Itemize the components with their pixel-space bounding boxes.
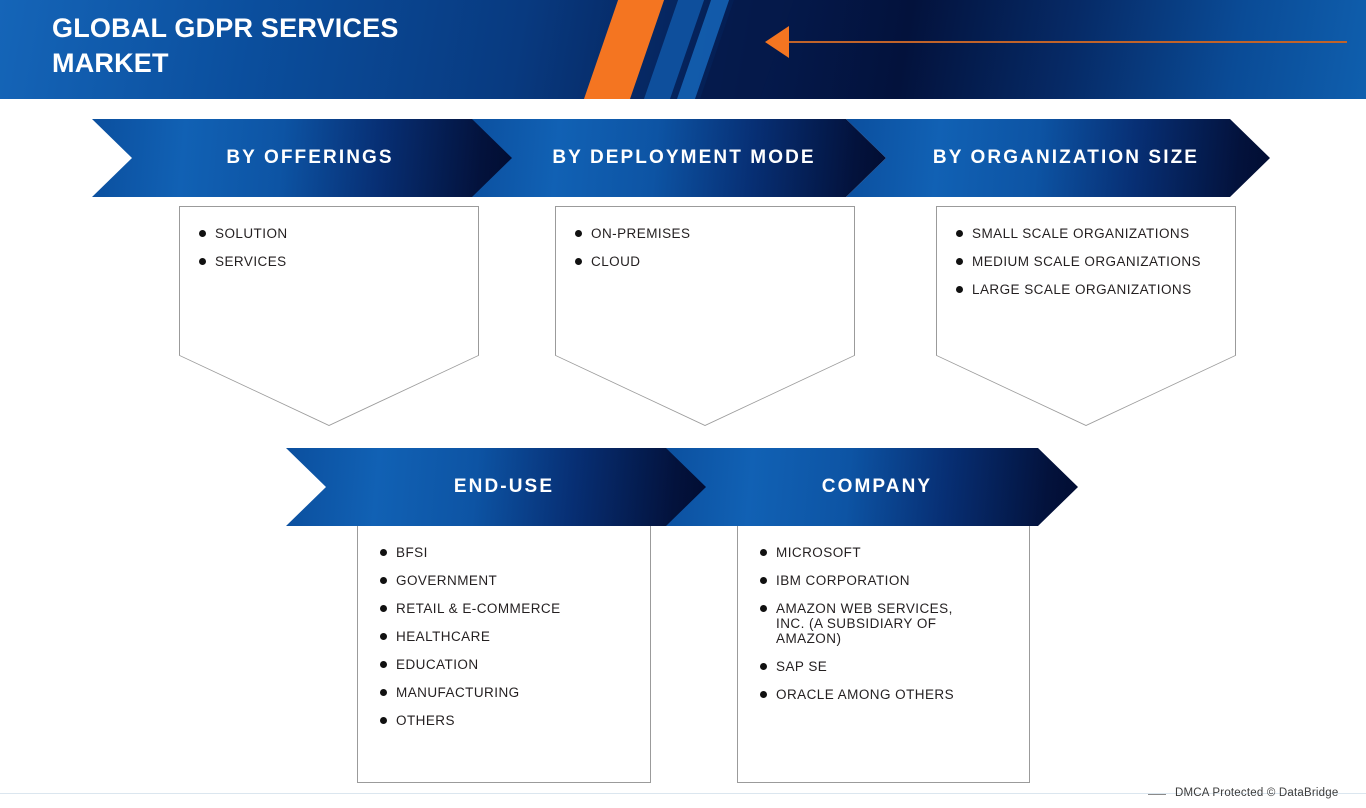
banner-offerings-label: BY OFFERINGS bbox=[92, 147, 512, 169]
list-item: RETAIL & E-COMMERCE bbox=[380, 601, 638, 616]
list-item-label: MANUFACTURING bbox=[396, 685, 520, 700]
list-item-label: MICROSOFT bbox=[776, 545, 861, 560]
list-item: HEALTHCARE bbox=[380, 629, 638, 644]
list-item: IBM CORPORATION bbox=[760, 573, 1017, 588]
list-offerings: SOLUTION SERVICES bbox=[179, 206, 479, 282]
left-arrow-icon bbox=[765, 26, 789, 58]
list-deployment-mode: ON-PREMISES CLOUD bbox=[555, 206, 855, 282]
bullet-icon bbox=[956, 258, 963, 265]
banner-offerings[interactable]: BY OFFERINGS bbox=[92, 119, 512, 197]
list-item: LARGE SCALE ORGANIZATIONS bbox=[956, 282, 1226, 297]
list-item-label: ON-PREMISES bbox=[591, 226, 690, 241]
banner-organization-size[interactable]: BY ORGANIZATION SIZE bbox=[846, 119, 1270, 197]
bullet-icon bbox=[760, 691, 767, 698]
page-title: GLOBAL GDPR SERVICES MARKET bbox=[52, 11, 612, 81]
panel-offerings: SOLUTION SERVICES bbox=[179, 206, 479, 426]
list-item-label: ORACLE AMONG OTHERS bbox=[776, 687, 954, 702]
list-item: ON-PREMISES bbox=[575, 226, 841, 241]
list-item: BFSI bbox=[380, 545, 638, 560]
list-item: SERVICES bbox=[199, 254, 465, 269]
list-item-label: BFSI bbox=[396, 545, 428, 560]
list-item-label: SERVICES bbox=[215, 254, 287, 269]
list-item: EDUCATION bbox=[380, 657, 638, 672]
list-item: AMAZON WEB SERVICES, INC. (A SUBSIDIARY … bbox=[760, 601, 1017, 646]
panel-deployment-mode: ON-PREMISES CLOUD bbox=[555, 206, 855, 426]
bullet-icon bbox=[199, 230, 206, 237]
panel-end-use: BFSI GOVERNMENT RETAIL & E-COMMERCE HEAL… bbox=[357, 524, 651, 783]
list-item: MEDIUM SCALE ORGANIZATIONS bbox=[956, 254, 1226, 269]
bullet-icon bbox=[956, 286, 963, 293]
list-item: CLOUD bbox=[575, 254, 841, 269]
bullet-icon bbox=[760, 663, 767, 670]
bullet-icon bbox=[380, 633, 387, 640]
list-item: ORACLE AMONG OTHERS bbox=[760, 687, 1017, 702]
list-item-label: SAP SE bbox=[776, 659, 827, 674]
bullet-icon bbox=[380, 577, 387, 584]
list-item-label: GOVERNMENT bbox=[396, 573, 497, 588]
bullet-icon bbox=[956, 230, 963, 237]
list-item-label: HEALTHCARE bbox=[396, 629, 490, 644]
list-organization-size: SMALL SCALE ORGANIZATIONS MEDIUM SCALE O… bbox=[936, 206, 1236, 310]
banner-deployment-mode[interactable]: BY DEPLOYMENT MODE bbox=[466, 119, 886, 197]
list-item-label: LARGE SCALE ORGANIZATIONS bbox=[972, 282, 1192, 297]
list-item-label: EDUCATION bbox=[396, 657, 479, 672]
list-item-label: OTHERS bbox=[396, 713, 455, 728]
bullet-icon bbox=[575, 258, 582, 265]
banner-company[interactable]: COMPANY bbox=[660, 448, 1078, 526]
list-end-use: BFSI GOVERNMENT RETAIL & E-COMMERCE HEAL… bbox=[358, 525, 650, 741]
list-item-label: AMAZON WEB SERVICES, INC. (A SUBSIDIARY … bbox=[776, 601, 953, 646]
bullet-icon bbox=[575, 230, 582, 237]
bullet-icon bbox=[380, 689, 387, 696]
list-item: SAP SE bbox=[760, 659, 1017, 674]
list-item: SMALL SCALE ORGANIZATIONS bbox=[956, 226, 1226, 241]
footer-copyright: DMCA Protected © DataBridge bbox=[1175, 787, 1338, 799]
bullet-icon bbox=[380, 605, 387, 612]
panel-organization-size: SMALL SCALE ORGANIZATIONS MEDIUM SCALE O… bbox=[936, 206, 1236, 426]
list-company: MICROSOFT IBM CORPORATION AMAZON WEB SER… bbox=[738, 525, 1029, 715]
list-item-label: IBM CORPORATION bbox=[776, 573, 910, 588]
list-item-label: SMALL SCALE ORGANIZATIONS bbox=[972, 226, 1190, 241]
list-item-label: CLOUD bbox=[591, 254, 641, 269]
list-item: MANUFACTURING bbox=[380, 685, 638, 700]
banner-end-use-label: END-USE bbox=[286, 476, 706, 498]
banner-deployment-mode-label: BY DEPLOYMENT MODE bbox=[466, 147, 886, 169]
page-header: GLOBAL GDPR SERVICES MARKET bbox=[0, 0, 1366, 99]
list-item-label: MEDIUM SCALE ORGANIZATIONS bbox=[972, 254, 1201, 269]
list-item-label: RETAIL & E-COMMERCE bbox=[396, 601, 561, 616]
bullet-icon bbox=[380, 661, 387, 668]
bullet-icon bbox=[380, 549, 387, 556]
banner-end-use[interactable]: END-USE bbox=[286, 448, 706, 526]
bullet-icon bbox=[760, 577, 767, 584]
panel-company: MICROSOFT IBM CORPORATION AMAZON WEB SER… bbox=[737, 524, 1030, 783]
bullet-icon bbox=[760, 605, 767, 612]
bullet-icon bbox=[760, 549, 767, 556]
bullet-icon bbox=[380, 717, 387, 724]
list-item: MICROSOFT bbox=[760, 545, 1017, 560]
header-arrow-line bbox=[787, 41, 1347, 43]
footer-dash-icon bbox=[1148, 794, 1166, 795]
list-item-label: SOLUTION bbox=[215, 226, 288, 241]
bullet-icon bbox=[199, 258, 206, 265]
list-item: SOLUTION bbox=[199, 226, 465, 241]
banner-company-label: COMPANY bbox=[660, 476, 1078, 498]
list-item: OTHERS bbox=[380, 713, 638, 728]
list-item: GOVERNMENT bbox=[380, 573, 638, 588]
banner-organization-size-label: BY ORGANIZATION SIZE bbox=[846, 147, 1270, 169]
